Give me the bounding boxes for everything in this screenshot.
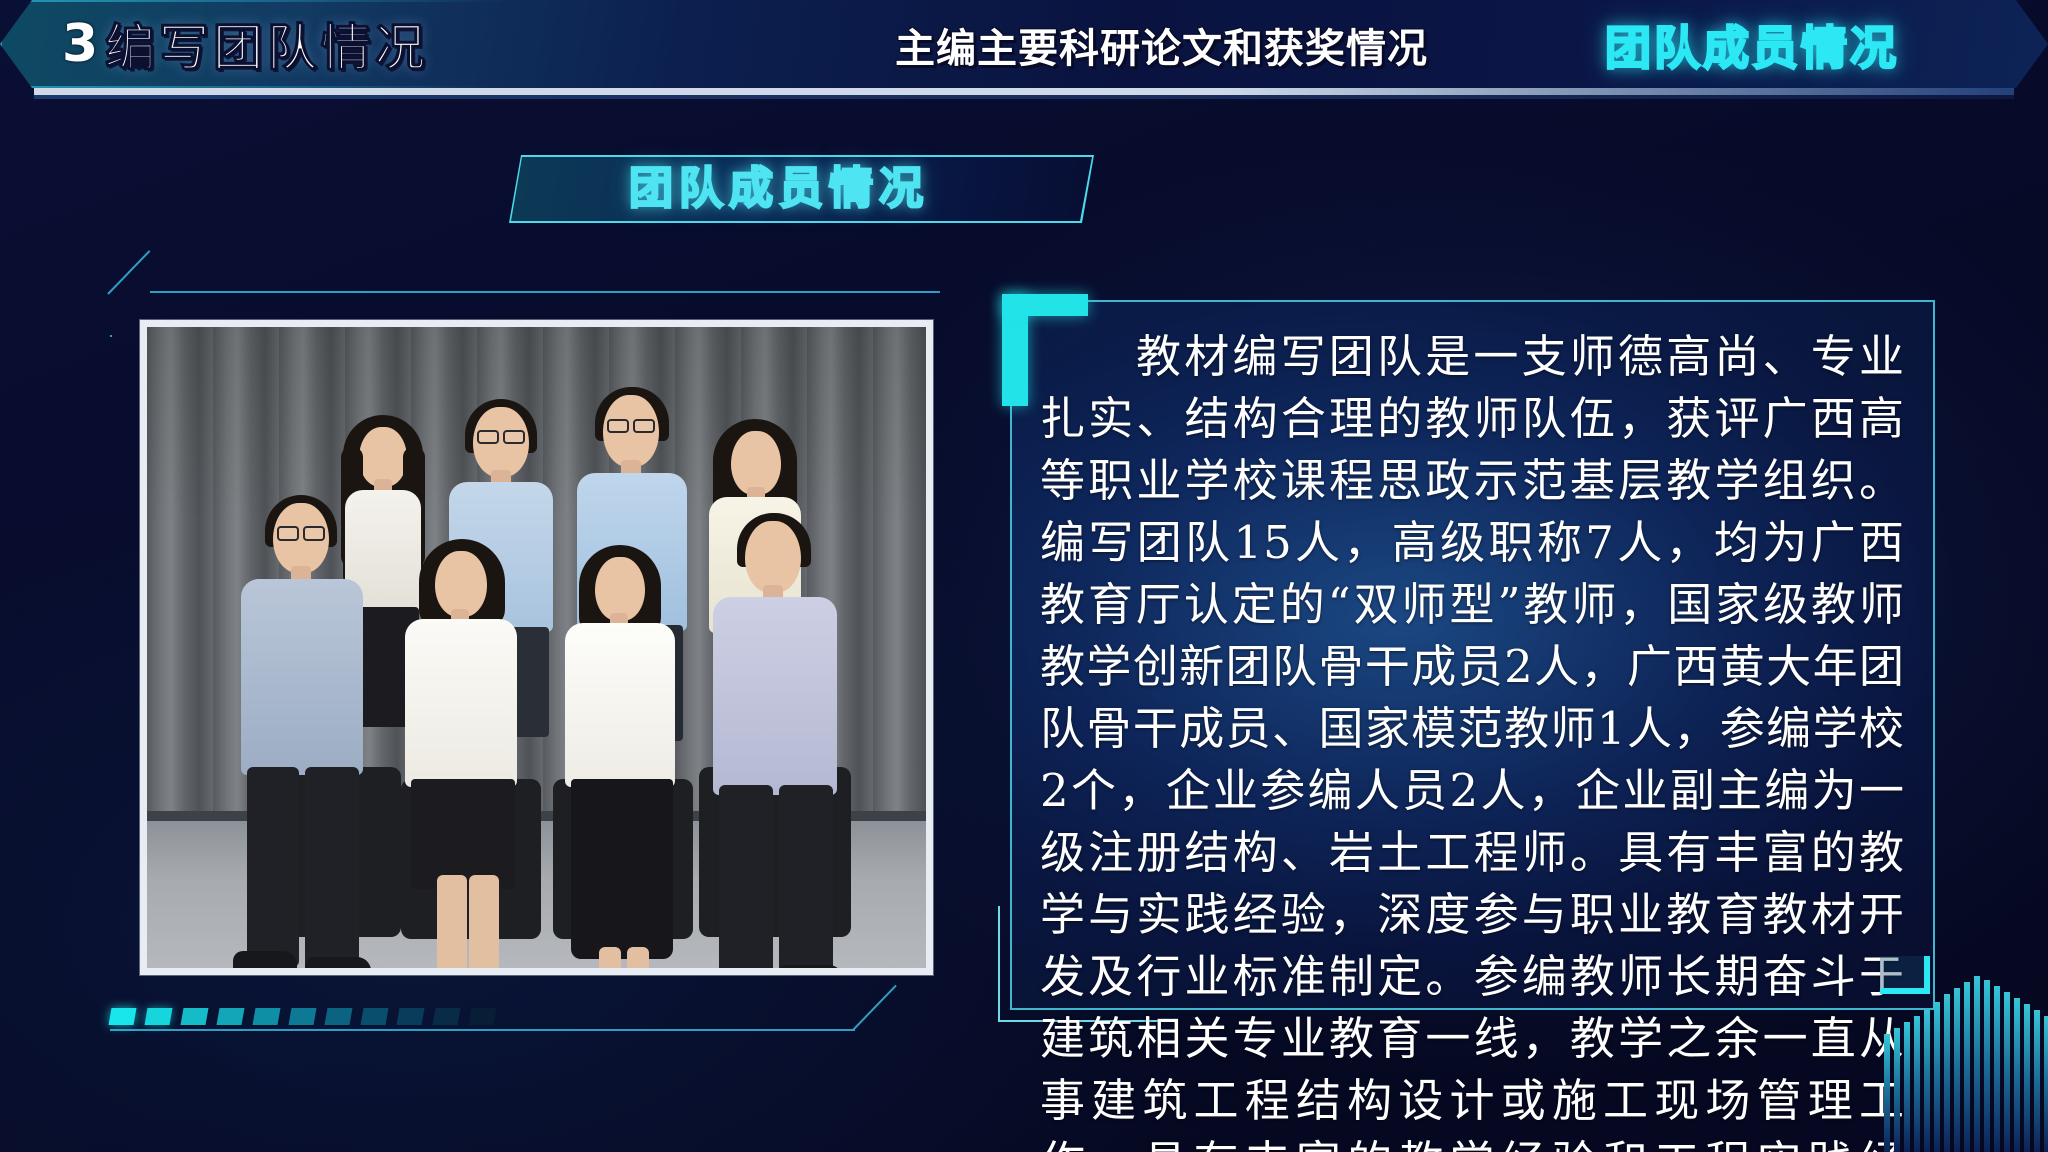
decor-dot — [433, 1008, 461, 1025]
decor-dot — [145, 1008, 173, 1025]
decor-dot — [397, 1008, 425, 1025]
slide-header: 3 编写团队情况 主编主要科研论文和获奖情况 团队成员情况 — [0, 0, 2048, 92]
team-photo-image — [147, 327, 926, 968]
slide-root: 3 编写团队情况 主编主要科研论文和获奖情况 团队成员情况 团队成员情况 — [0, 0, 2048, 1152]
header-section-number: 3 — [62, 14, 100, 74]
decor-dot — [469, 1008, 497, 1025]
team-description-panel: 教材编写团队是一支师德高尚、专业扎实、结构合理的教师队伍，获评广西高等职业学校课… — [1010, 300, 1935, 1010]
header-tab-papers-awards[interactable]: 主编主要科研论文和获奖情况 — [895, 16, 1428, 74]
panel-corner-accent-bottom-left-vertical — [998, 906, 1000, 1022]
decor-dot — [289, 1008, 317, 1025]
decor-dot — [253, 1008, 281, 1025]
decor-dot — [181, 1008, 209, 1025]
decor-dot — [361, 1008, 389, 1025]
decorative-dot-strip — [110, 1008, 495, 1025]
header-underline-secondary — [34, 95, 2014, 99]
decor-dot — [109, 1008, 137, 1025]
section-title-banner: 团队成员情况 — [509, 155, 1094, 223]
decor-dot — [217, 1008, 245, 1025]
header-tab-team-members[interactable]: 团队成员情况 — [1605, 12, 1899, 78]
header-underline — [34, 88, 2014, 95]
banner-title-text: 团队成员情况 — [509, 159, 1049, 219]
team-photo-frame — [140, 320, 933, 975]
team-description-text: 教材编写团队是一支师德高尚、专业扎实、结构合理的教师队伍，获评广西高等职业学校课… — [1040, 326, 1905, 1152]
decorative-skyline-bars — [1880, 956, 2048, 1152]
panel-corner-accent-top-left-horizontal — [1002, 294, 1088, 316]
decor-dot — [325, 1008, 353, 1025]
skyline-corner-bracket-icon — [1880, 956, 1930, 994]
header-section-title: 编写团队情况 — [105, 8, 429, 80]
